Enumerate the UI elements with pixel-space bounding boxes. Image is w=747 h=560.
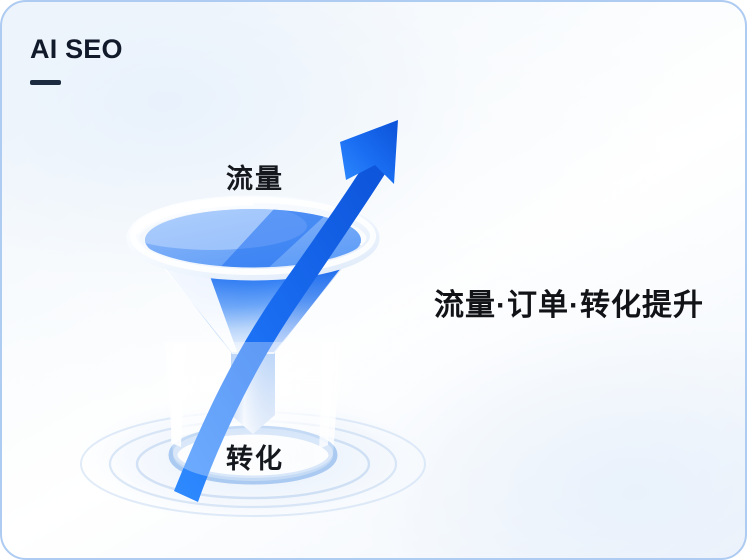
label-traffic: 流量 [226,157,284,196]
label-conversion: 转化 [226,437,284,476]
title-block: AI SEO [30,36,123,85]
funnel-stem [231,302,275,434]
funnel-cone [145,242,361,354]
page-title: AI SEO [30,36,123,63]
funnel-bowl [117,202,361,272]
funnel-rim [133,200,373,274]
title-underline-rule [30,80,61,85]
slide-canvas: AI SEO 流量 转化 流量·订单·转化提升 [0,0,747,560]
growth-arrow [174,120,398,502]
headline-text: 流量·订单·转化提升 [434,280,704,324]
